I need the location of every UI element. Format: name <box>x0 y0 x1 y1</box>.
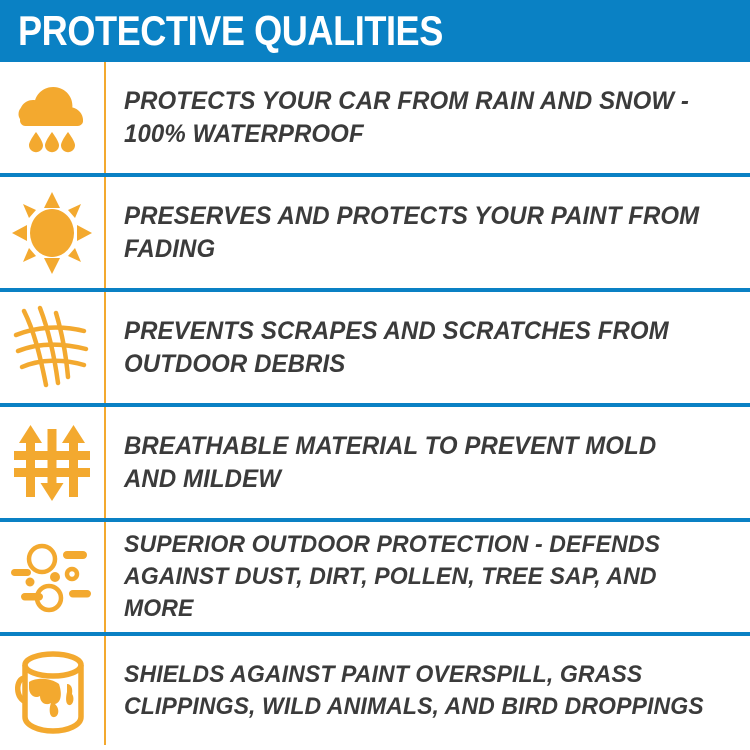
icon-cell <box>0 292 106 403</box>
paint-can-icon <box>13 648 91 734</box>
feature-text: SHIELDS AGAINST PAINT OVERSPILL, GRASS C… <box>124 659 712 722</box>
feature-row-dust-dirt: SUPERIOR OUTDOOR PROTECTION - DEFENDS AG… <box>0 522 750 636</box>
icon-cell <box>0 636 106 745</box>
header-bar: PROTECTIVE QUALITIES <box>0 0 750 62</box>
icon-cell <box>0 62 106 173</box>
breathable-airflow-icon <box>12 423 92 503</box>
feature-text: PREVENTS SCRAPES AND SCRATCHES FROM OUTD… <box>124 315 712 381</box>
text-cell: BREATHABLE MATERIAL TO PREVENT MOLD AND … <box>106 407 750 518</box>
feature-text: PROTECTS YOUR CAR FROM RAIN AND SNOW - 1… <box>124 85 712 151</box>
icon-cell <box>0 177 106 288</box>
icon-cell <box>0 522 106 632</box>
protective-qualities-infographic: PROTECTIVE QUALITIES <box>0 0 750 750</box>
dust-particles-icon <box>9 538 95 616</box>
feature-row-paint-overspill: SHIELDS AGAINST PAINT OVERSPILL, GRASS C… <box>0 636 750 745</box>
feature-text: BREATHABLE MATERIAL TO PREVENT MOLD AND … <box>124 430 712 496</box>
feature-text: SUPERIOR OUTDOOR PROTECTION - DEFENDS AG… <box>124 529 712 624</box>
text-cell: PRESERVES AND PROTECTS YOUR PAINT FROM F… <box>106 177 750 288</box>
icon-cell <box>0 407 106 518</box>
sun-icon <box>12 192 92 274</box>
feature-row-breathable: BREATHABLE MATERIAL TO PREVENT MOLD AND … <box>0 407 750 522</box>
feature-row-scratches: PREVENTS SCRAPES AND SCRATCHES FROM OUTD… <box>0 292 750 407</box>
feature-list: PROTECTS YOUR CAR FROM RAIN AND SNOW - 1… <box>0 62 750 745</box>
text-cell: PREVENTS SCRAPES AND SCRATCHES FROM OUTD… <box>106 292 750 403</box>
text-cell: PROTECTS YOUR CAR FROM RAIN AND SNOW - 1… <box>106 62 750 173</box>
page-title: PROTECTIVE QUALITIES <box>18 10 443 52</box>
text-cell: SUPERIOR OUTDOOR PROTECTION - DEFENDS AG… <box>106 522 750 632</box>
scratch-mesh-icon <box>10 305 94 391</box>
feature-row-waterproof: PROTECTS YOUR CAR FROM RAIN AND SNOW - 1… <box>0 62 750 177</box>
text-cell: SHIELDS AGAINST PAINT OVERSPILL, GRASS C… <box>106 636 750 745</box>
rain-cloud-icon <box>14 79 90 157</box>
feature-text: PRESERVES AND PROTECTS YOUR PAINT FROM F… <box>124 200 712 266</box>
feature-row-uv-fading: PRESERVES AND PROTECTS YOUR PAINT FROM F… <box>0 177 750 292</box>
